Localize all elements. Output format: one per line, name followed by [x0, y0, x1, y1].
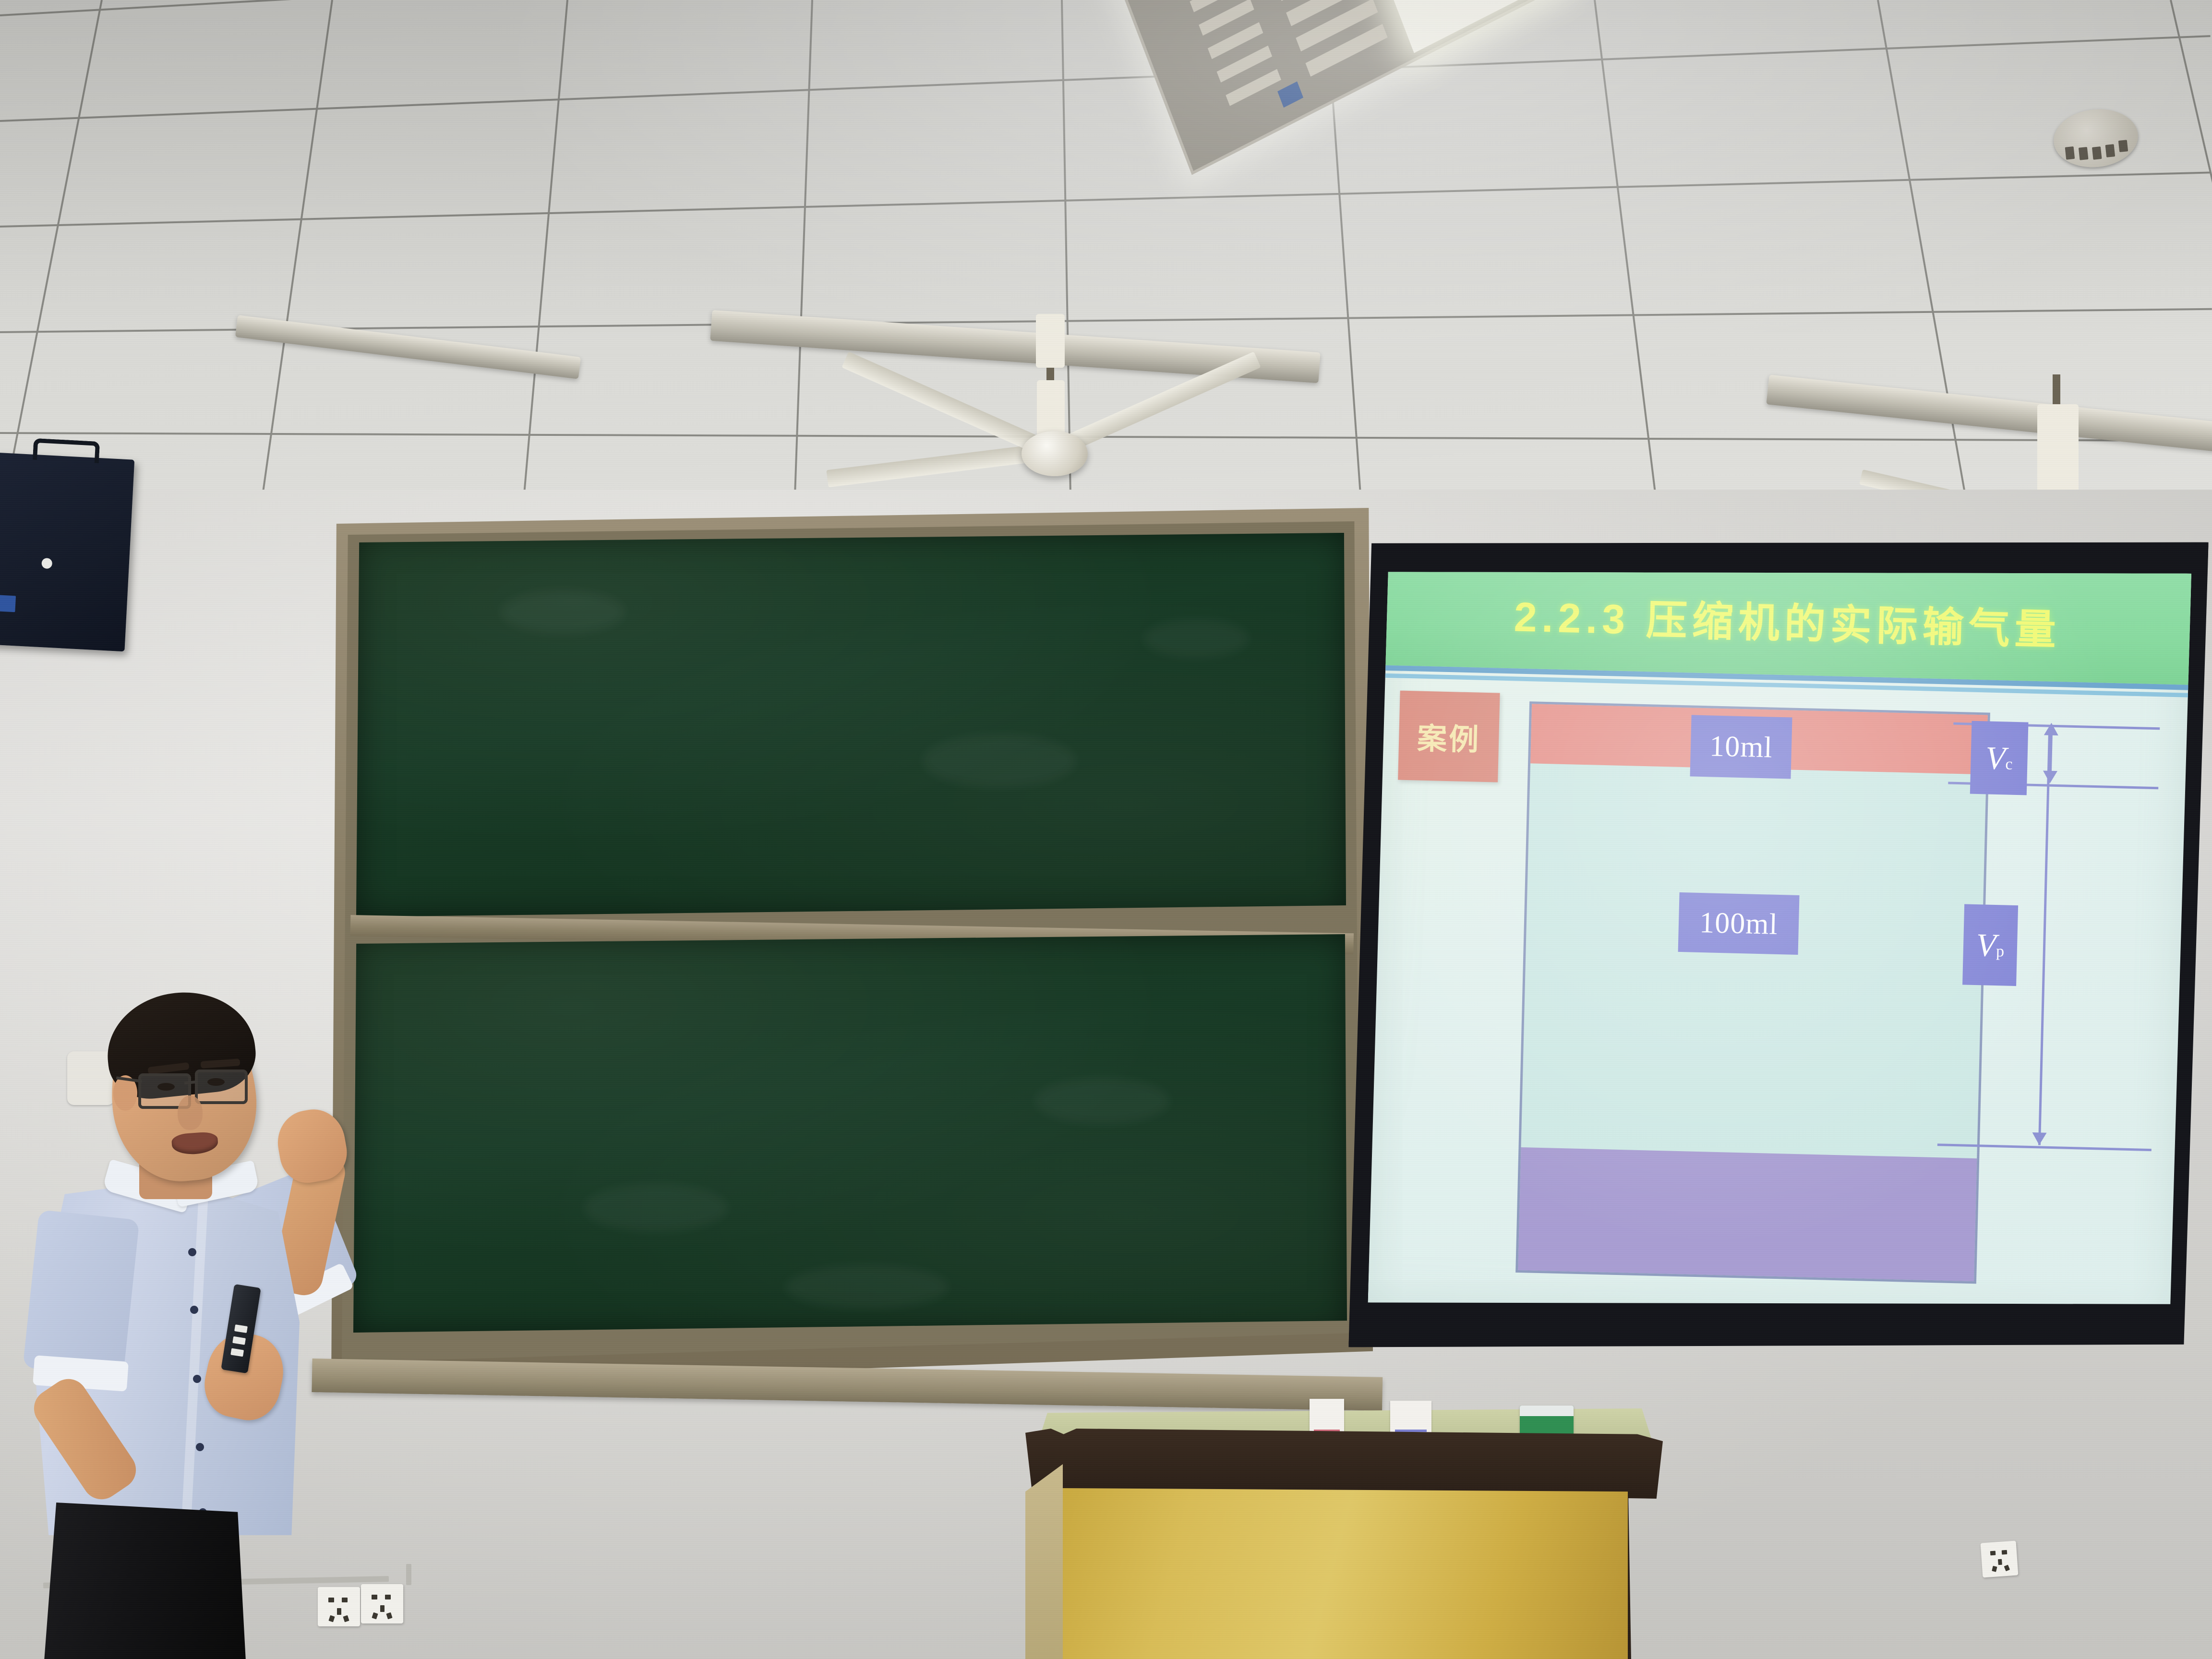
- slide-title-band: 2.2.3 压缩机的实际输气量: [1383, 554, 2191, 685]
- eye-right: [207, 1078, 225, 1086]
- shirt-button: [196, 1443, 204, 1451]
- projection-screen: 2.2.3 压缩机的实际输气量 案例 10ml 100ml: [1348, 522, 2209, 1368]
- vc-label-chip: Vc: [1970, 721, 2029, 795]
- case-badge-label: 案例: [1417, 714, 1481, 758]
- shirt-button: [188, 1248, 196, 1256]
- vp-dimension-line: [2038, 732, 2051, 1145]
- vc-arrow-down-icon: [2043, 770, 2057, 783]
- indicator-dot: [41, 558, 52, 569]
- case-badge: 案例: [1398, 691, 1500, 782]
- piston-block: [1518, 1147, 1977, 1281]
- lecturer: [19, 989, 451, 1659]
- vp-label: Vp: [1976, 928, 2005, 962]
- shirt-button: [193, 1375, 201, 1383]
- clearance-volume-chip: 10ml: [1690, 715, 1792, 779]
- ceiling: [0, 0, 2212, 566]
- vp-arrow-down-icon: [2032, 1132, 2047, 1145]
- slide-title: 2.2.3 压缩机的实际输气量: [1514, 583, 2062, 656]
- vc-arrow-up-icon: [2044, 722, 2059, 735]
- lectern-side-panel: [1025, 1464, 1063, 1659]
- swept-volume-chip: 100ml: [1678, 892, 1800, 955]
- nose: [178, 1095, 203, 1130]
- trousers: [44, 1503, 246, 1659]
- swept-volume-label: 100ml: [1699, 905, 1778, 941]
- eye-left: [157, 1083, 175, 1091]
- blackboard-lower-panel: [353, 934, 1347, 1333]
- slide-surface: 2.2.3 压缩机的实际输气量 案例 10ml 100ml: [1368, 554, 2192, 1322]
- shirt-button: [190, 1306, 198, 1314]
- lectern-front-panel: [1054, 1488, 1631, 1659]
- lens-right: [195, 1070, 248, 1104]
- left-sleeve: [23, 1210, 139, 1378]
- blackboard-upper-panel: [356, 533, 1346, 917]
- vc-label: Vc: [1985, 741, 2013, 774]
- lectern: [1013, 1392, 1695, 1659]
- clearance-volume-label: 10ml: [1709, 729, 1773, 765]
- power-socket-right[interactable]: [1981, 1541, 2019, 1578]
- classroom-photo: 2.2.3 压缩机的实际输气量 案例 10ml 100ml: [0, 0, 2212, 1659]
- blackboard: [331, 508, 1373, 1386]
- wall-cabinet: [0, 453, 134, 652]
- lectern-top-rail: [1025, 1429, 1663, 1499]
- cylinder-diagram: [1515, 701, 1990, 1284]
- cabinet-label: [0, 594, 16, 612]
- vp-label-chip: Vp: [1962, 904, 2018, 986]
- fixture-label: [1277, 82, 1303, 108]
